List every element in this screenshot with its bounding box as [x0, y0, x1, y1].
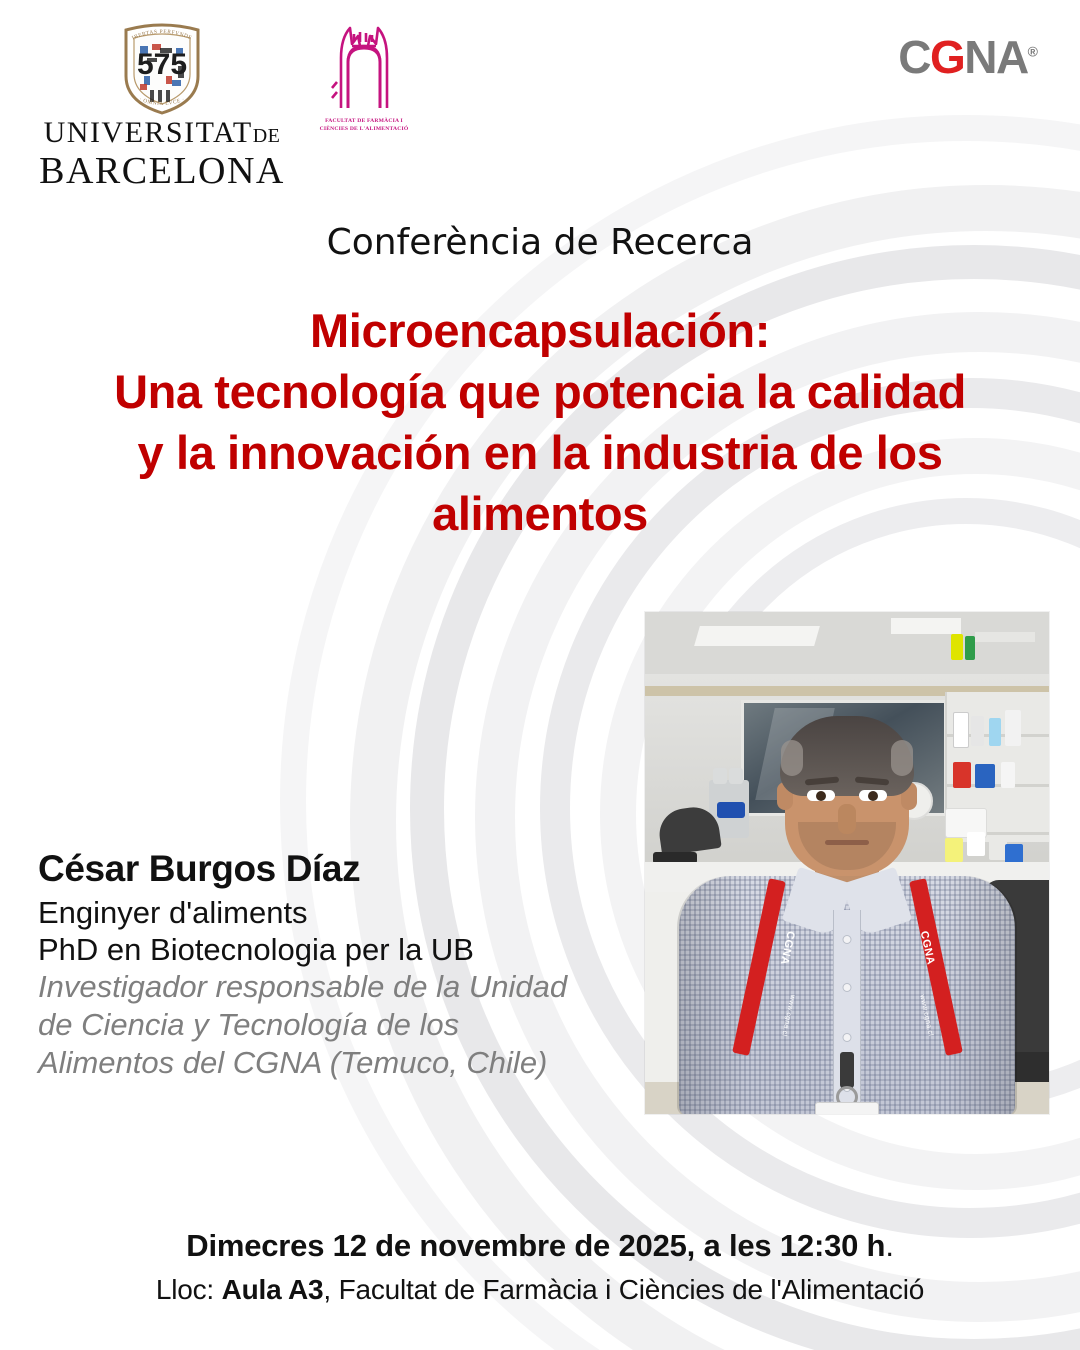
speaker-info: César Burgos Díaz Enginyer d'aliments Ph… [38, 848, 638, 1082]
pupil-left [816, 791, 826, 801]
ceiling-light-panel [694, 626, 820, 646]
reagent-bottle [965, 636, 975, 660]
ub-wordmark: UNIVERSITATDE BARCELONA [36, 118, 288, 190]
event-location-room: Aula A3 [222, 1274, 324, 1305]
shirt-shadow-left [677, 876, 747, 1114]
ub-575-shield-icon: 575 · LIBERTAS PERFVNDET · · OMNIA LVCE … [116, 14, 208, 118]
shirt-button [844, 1034, 851, 1041]
faculty-of-pharmacy-logo: FACULTAT DE FARMÀCIA I CIÈNCIES DE L'ALI… [318, 22, 410, 133]
hair-gray-left [781, 740, 803, 776]
title-line-3: y la innovación en la industria de los [20, 422, 1060, 483]
cgna-letter-c: C [898, 31, 930, 83]
event-details: Dimecres 12 de novembre de 2025, a les 1… [0, 1228, 1080, 1306]
faculty-arch-icon [328, 22, 400, 114]
conference-poster: 575 · LIBERTAS PERFVNDET · · OMNIA LVCE … [0, 0, 1080, 1350]
speaker-role-1: Enginyer d'aliments [38, 894, 638, 931]
shirt-button [844, 936, 851, 943]
speaker-photo: CGNA CGNA www.cgna.cl www.cgna.cl [645, 612, 1049, 1114]
ub-wordmark-line2: BARCELONA [36, 152, 288, 190]
mouth [825, 840, 869, 845]
event-datetime-period: . [885, 1228, 893, 1263]
event-kicker: Conferència de Recerca [0, 222, 1080, 263]
cgna-letter-g: G [930, 31, 964, 83]
title-line-2: Una tecnología que potencia la calidad [20, 361, 1060, 422]
event-datetime-text: Dimecres 12 de novembre de 2025, a les 1… [186, 1228, 885, 1263]
speaker-affiliation-line-1: Investigador responsable de la Unidad [38, 968, 638, 1006]
cgna-wordmark: CGNA® [898, 34, 1038, 80]
event-location: Lloc: Aula A3, Facultat de Farmàcia i Ci… [0, 1274, 1080, 1306]
speaker-affiliation-line-3: Alimentos del CGNA (Temuco, Chile) [38, 1044, 638, 1082]
faculty-caption-line2: CIÈNCIES DE L'ALIMENTACIÓ [318, 125, 410, 133]
event-datetime: Dimecres 12 de novembre de 2025, a les 1… [0, 1228, 1080, 1264]
ub-wordmark-de: DE [253, 125, 281, 147]
event-location-prefix: Lloc: [156, 1274, 222, 1305]
speaker-figure: CGNA CGNA www.cgna.cl www.cgna.cl [677, 704, 1017, 1114]
ceiling-light-panel [891, 618, 961, 634]
cgna-letters-na: NA [964, 31, 1027, 83]
lanyard-clip [840, 1052, 854, 1088]
page-title: Microencapsulación: Una tecnología que p… [20, 300, 1060, 544]
shirt-button [844, 984, 851, 991]
speaker-role-2: PhD en Biotecnologia per la UB [38, 931, 638, 968]
ceiling-light-panel [975, 632, 1035, 642]
faculty-logo-caption: FACULTAT DE FARMÀCIA I CIÈNCIES DE L'ALI… [318, 117, 410, 133]
registered-trademark-icon: ® [1028, 44, 1038, 60]
speaker-affiliation-line-2: de Ciencia y Tecnología de los [38, 1006, 638, 1044]
hair-gray-right [891, 740, 913, 776]
ub-wordmark-line1: UNIVERSITAT [44, 116, 253, 149]
poster-header: 575 · LIBERTAS PERFVNDET · · OMNIA LVCE … [0, 0, 1080, 200]
shirt-shadow-right [947, 876, 1017, 1114]
id-badge [815, 1102, 879, 1114]
reagent-bottle [951, 634, 963, 660]
universitat-de-barcelona-logo: 575 · LIBERTAS PERFVNDET · · OMNIA LVCE … [36, 14, 288, 190]
title-line-4: alimentos [20, 483, 1060, 544]
title-line-1: Microencapsulación: [20, 300, 1060, 361]
svg-text:575: 575 [137, 48, 187, 81]
event-location-rest: , Facultat de Farmàcia i Ciències de l'A… [323, 1274, 924, 1305]
nose [838, 804, 856, 834]
pupil-right [868, 791, 878, 801]
speaker-name: César Burgos Díaz [38, 848, 638, 890]
cgna-logo: CGNA® [898, 34, 1038, 80]
laboratory-scene: CGNA CGNA www.cgna.cl www.cgna.cl [645, 612, 1049, 1114]
faculty-caption-line1: FACULTAT DE FARMÀCIA I [318, 117, 410, 125]
